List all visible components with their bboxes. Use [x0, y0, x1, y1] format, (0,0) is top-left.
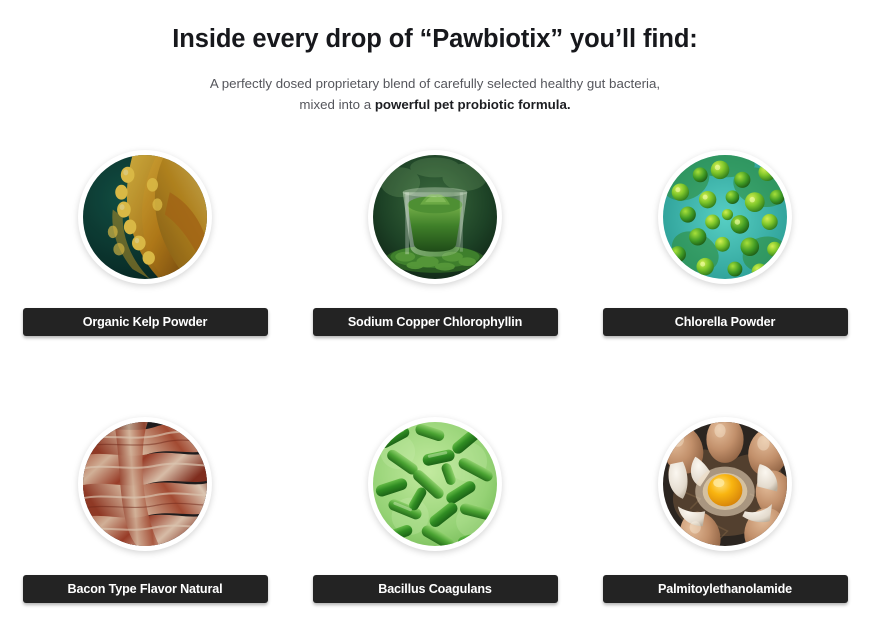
ingredient-card[interactable]: Organic Kelp Powder [0, 150, 290, 417]
ingredient-label: Chlorella Powder [675, 315, 775, 329]
ingredient-thumbnail [658, 150, 792, 284]
ingredient-label-pill[interactable]: Bacon Type Flavor Natural [23, 575, 268, 603]
ingredient-label: Bacon Type Flavor Natural [68, 582, 223, 596]
ingredient-label: Sodium Copper Chlorophyllin [348, 315, 522, 329]
ingredient-label: Palmitoylethanolamide [658, 582, 792, 596]
subtitle-line-2-strong: powerful pet probiotic formula. [375, 97, 571, 112]
ingredient-thumbnail [78, 417, 212, 551]
ingredient-label-pill[interactable]: Chlorella Powder [603, 308, 848, 336]
ingredient-card[interactable]: Palmitoylethanolamide [580, 417, 870, 643]
ingredient-label: Organic Kelp Powder [83, 315, 208, 329]
page-subtitle: A perfectly dosed proprietary blend of c… [0, 73, 870, 116]
kelp-photo [83, 155, 207, 279]
ingredient-thumbnail [368, 417, 502, 551]
ingredient-label: Bacillus Coagulans [378, 582, 491, 596]
ingredient-grid: Organic Kelp Powder [0, 150, 870, 643]
green-powder-bowl-photo [373, 155, 497, 279]
ingredient-thumbnail [368, 150, 502, 284]
bacon-strips-photo [83, 422, 207, 546]
subtitle-line-2-prefix: mixed into a [299, 97, 374, 112]
ingredient-card[interactable]: Bacillus Coagulans [290, 417, 580, 643]
ingredient-card[interactable]: Sodium Copper Chlorophyllin [290, 150, 580, 417]
page-header: Inside every drop of “Pawbiotix” you’ll … [0, 0, 870, 116]
ingredients-page: Inside every drop of “Pawbiotix” you’ll … [0, 0, 870, 643]
ingredient-thumbnail [658, 417, 792, 551]
ingredient-label-pill[interactable]: Organic Kelp Powder [23, 308, 268, 336]
ingredient-label-pill[interactable]: Sodium Copper Chlorophyllin [313, 308, 558, 336]
ingredient-thumbnail [78, 150, 212, 284]
eggs-photo [663, 422, 787, 546]
page-title: Inside every drop of “Pawbiotix” you’ll … [0, 24, 870, 56]
bacillus-rods-photo [373, 422, 497, 546]
ingredient-card[interactable]: Bacon Type Flavor Natural [0, 417, 290, 643]
subtitle-line-1: A perfectly dosed proprietary blend of c… [210, 76, 660, 91]
ingredient-label-pill[interactable]: Palmitoylethanolamide [603, 575, 848, 603]
ingredient-label-pill[interactable]: Bacillus Coagulans [313, 575, 558, 603]
ingredient-card[interactable]: Chlorella Powder [580, 150, 870, 417]
chlorella-cells-photo [663, 155, 787, 279]
